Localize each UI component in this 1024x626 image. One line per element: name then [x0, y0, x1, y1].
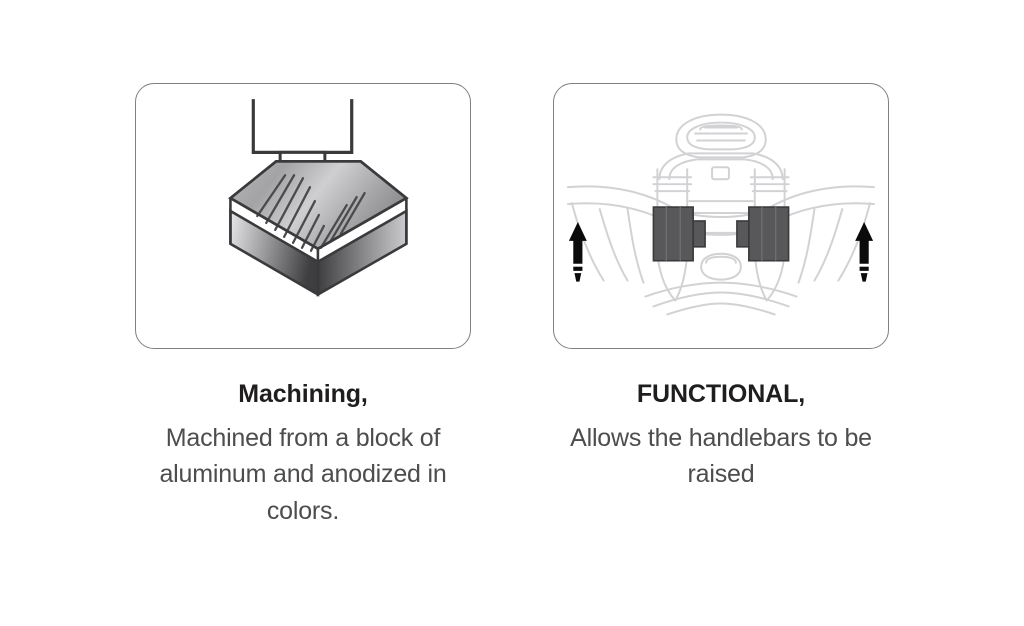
functional-body: Allows the handlebars to be raised — [541, 420, 901, 493]
machining-title: Machining, — [123, 379, 483, 410]
riser-block-left — [653, 207, 693, 261]
riser-block-right — [749, 207, 789, 261]
up-arrow-right-icon — [855, 222, 873, 282]
handlebar-riser-icon — [554, 83, 888, 349]
feature-machining: Machining, Machined from a block of alum… — [135, 83, 471, 529]
cnc-milling-machine-icon — [136, 83, 470, 349]
machining-icon-card — [135, 83, 471, 349]
feature-highlights-page: Machining, Machined from a block of alum… — [0, 0, 1024, 626]
machining-caption: Machining, Machined from a block of alum… — [123, 379, 483, 529]
riser-block-left-tab — [693, 221, 705, 247]
up-arrow-left-icon — [569, 222, 587, 282]
machining-body: Machined from a block of aluminum and an… — [123, 420, 483, 530]
aluminum-block-group — [230, 161, 406, 294]
functional-icon-card — [553, 83, 889, 349]
feature-cards-row: Machining, Machined from a block of alum… — [0, 0, 1024, 626]
functional-caption: FUNCTIONAL, Allows the handlebars to be … — [541, 379, 901, 493]
riser-block-right-tab — [737, 221, 749, 247]
motorcycle-outline-group — [568, 115, 874, 315]
functional-title: FUNCTIONAL, — [541, 379, 901, 410]
feature-functional: FUNCTIONAL, Allows the handlebars to be … — [553, 83, 889, 493]
spindle-bracket-icon — [253, 101, 351, 153]
